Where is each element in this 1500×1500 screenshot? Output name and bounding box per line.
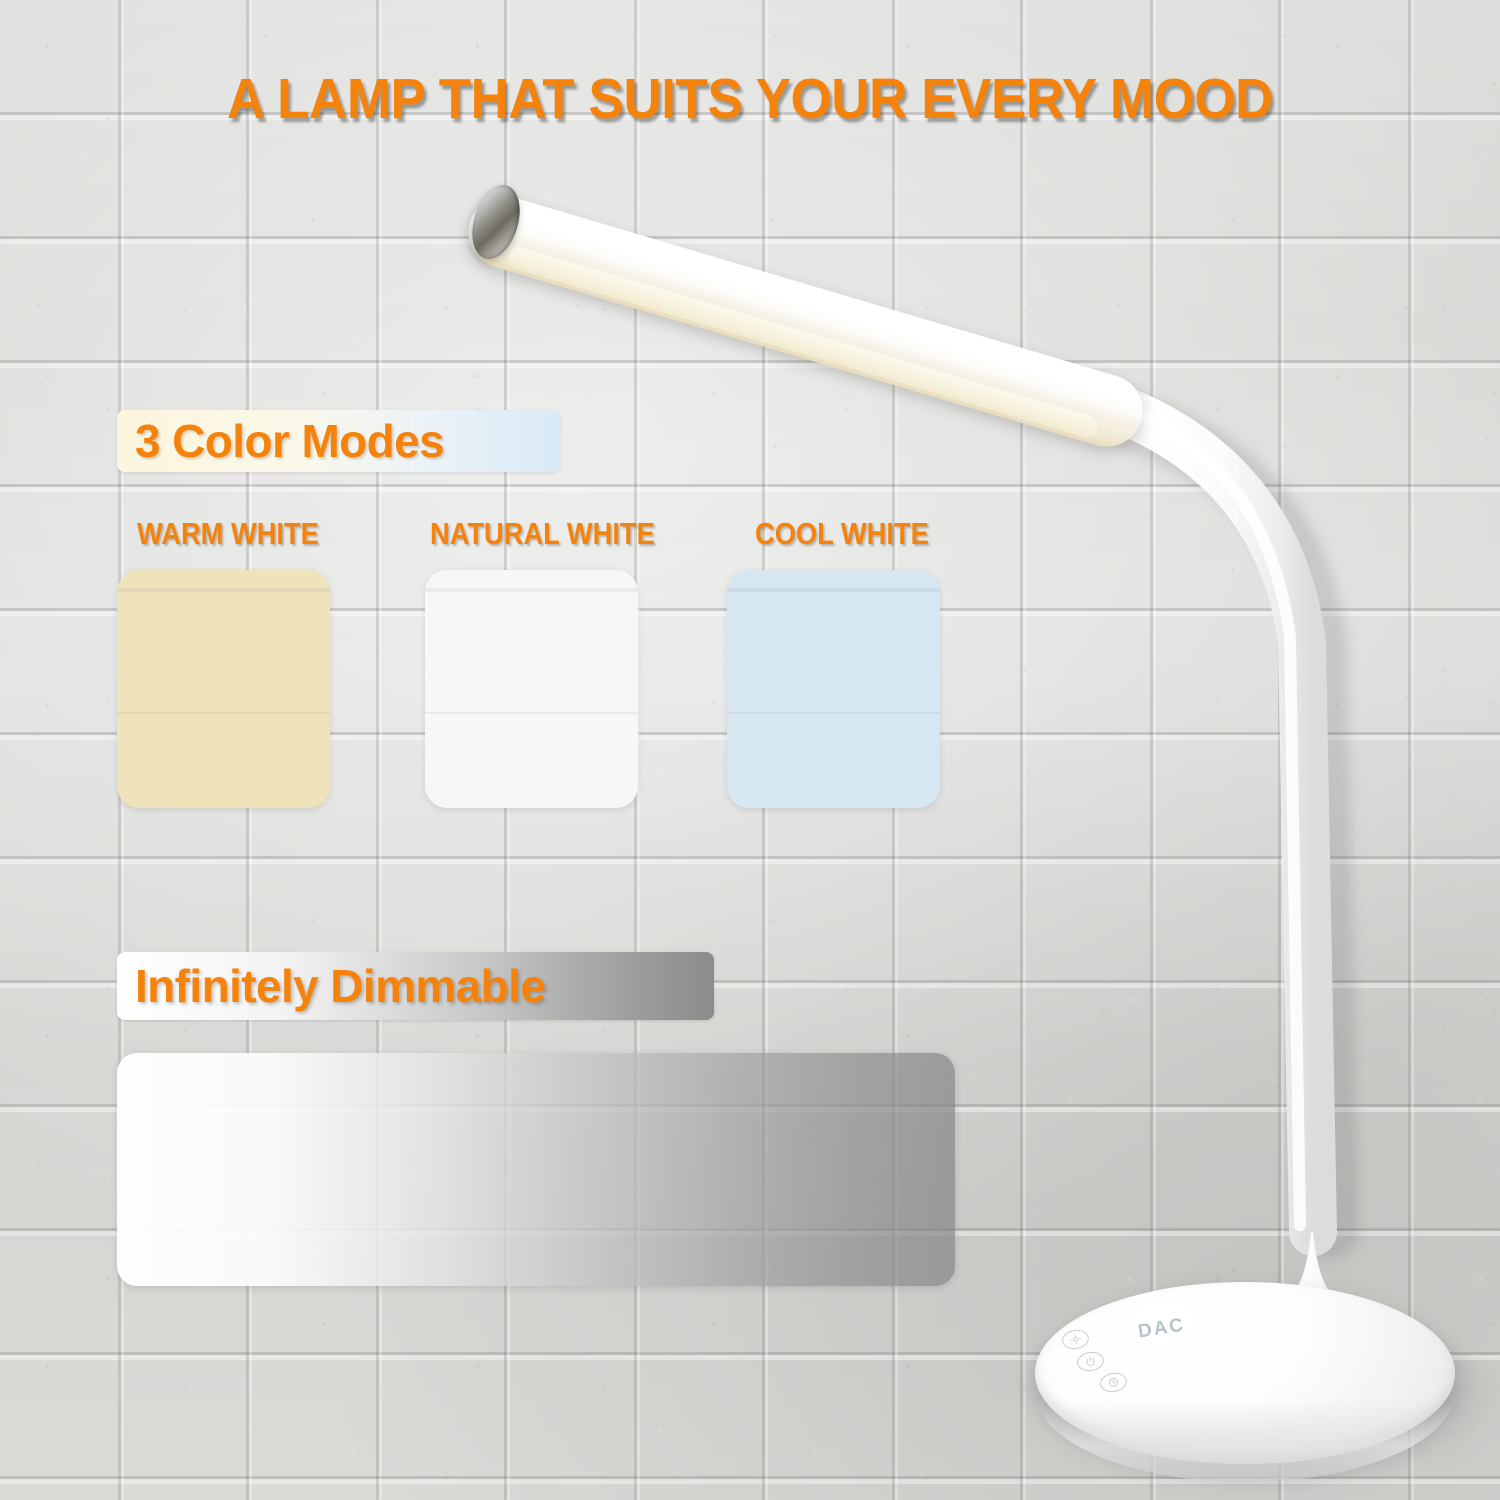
swatch-warm-white[interactable] (117, 570, 330, 808)
page-title: A LAMP THAT SUITS YOUR EVERY MOOD (53, 70, 1448, 128)
dimmable-heading-band: Infinitely Dimmable (117, 952, 714, 1020)
color-modes-heading-label: 3 Color Modes (135, 414, 444, 468)
dimmer-gradient-bar[interactable] (117, 1053, 955, 1286)
swatch-natural-white[interactable] (425, 570, 638, 808)
product-feature-graphic: A LAMP THAT SUITS YOUR EVERY MOOD 3 Colo… (0, 0, 1500, 1500)
swatch-label-warm-white: WARM WHITE (137, 516, 319, 552)
dimmable-heading-label: Infinitely Dimmable (135, 959, 545, 1013)
swatch-label-cool-white: COOL WHITE (755, 516, 929, 552)
color-modes-heading-band: 3 Color Modes (117, 410, 560, 472)
swatch-label-natural-white: NATURAL WHITE (430, 516, 655, 552)
swatch-cool-white[interactable] (727, 570, 940, 808)
